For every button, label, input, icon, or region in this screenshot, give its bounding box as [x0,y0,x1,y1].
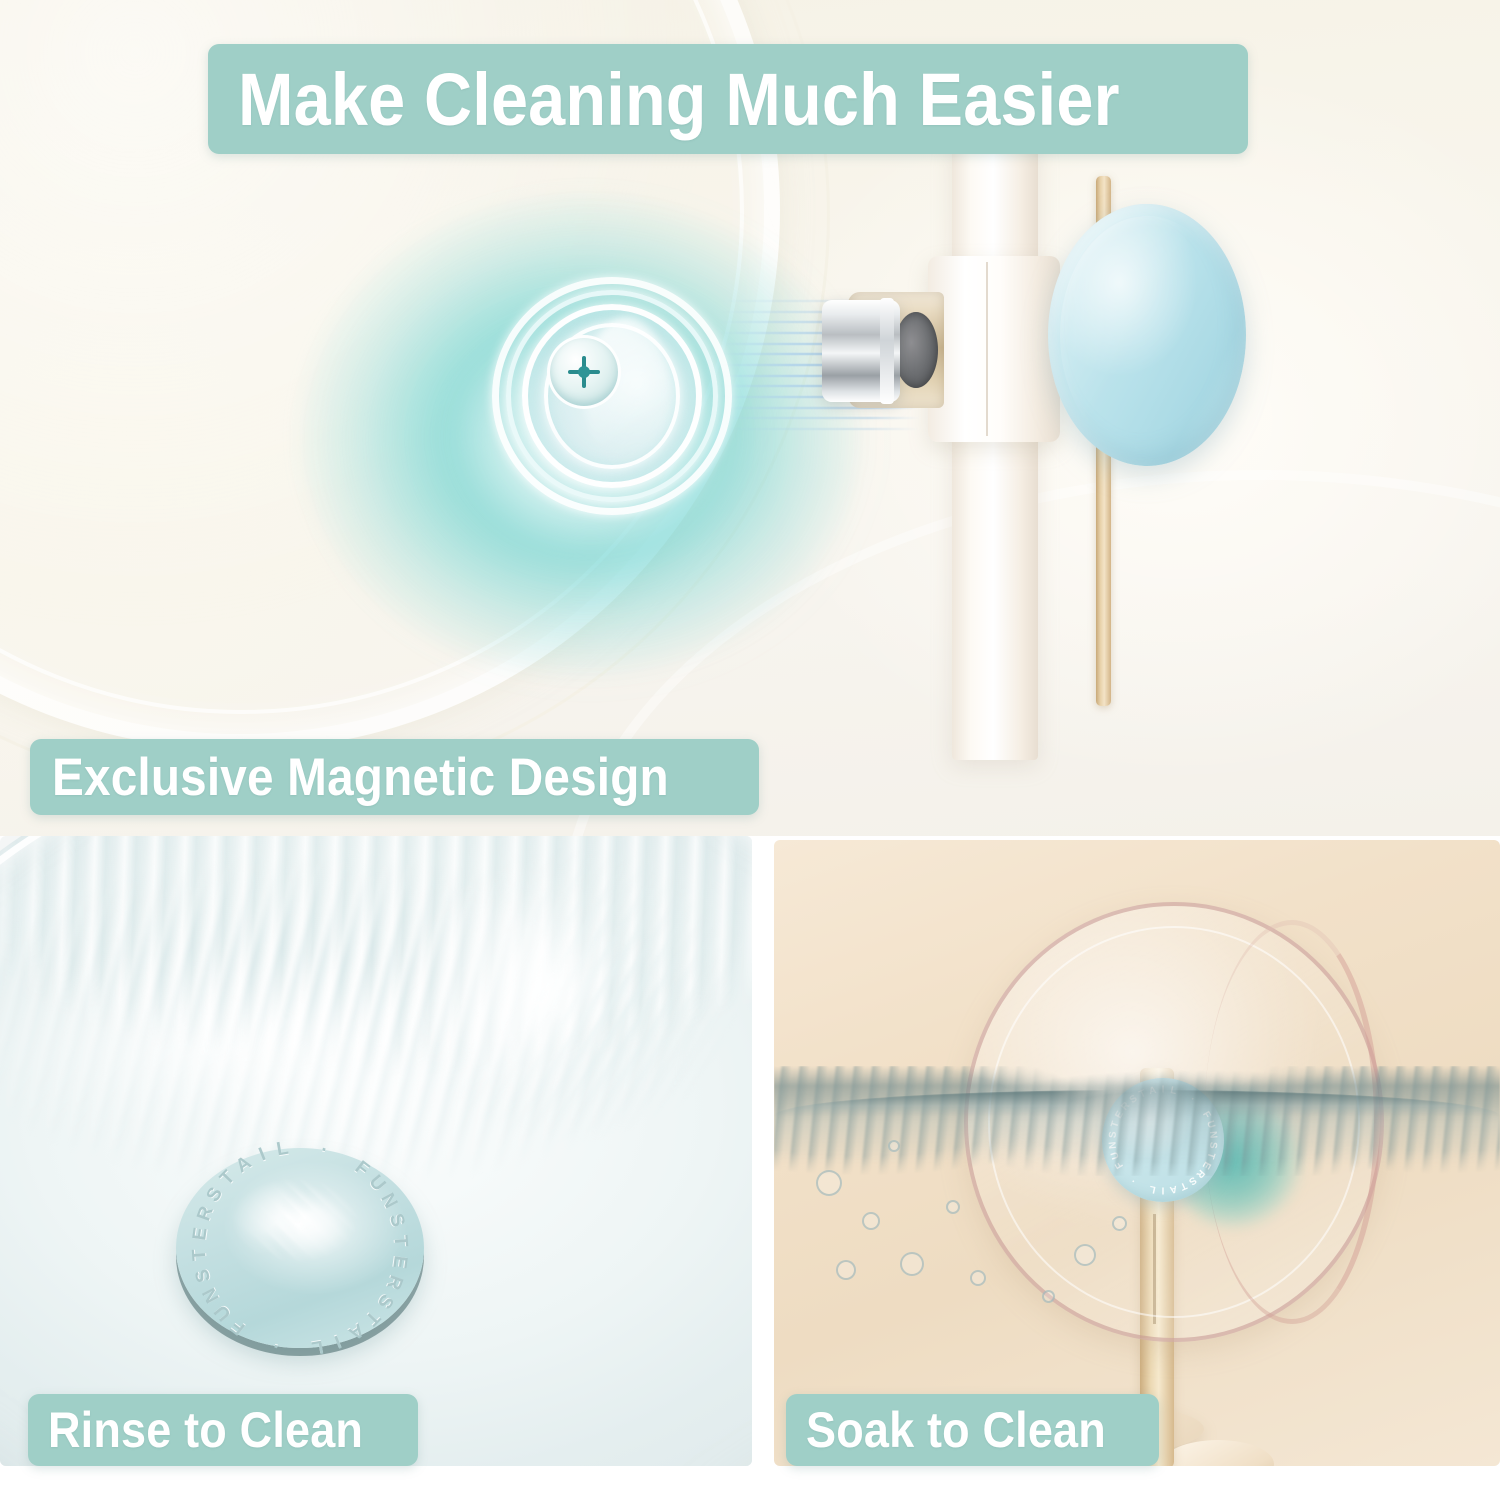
disc-brand-char: L [310,1335,325,1359]
magnetic-disc-rinse: FUNSTERSTAIL · FUNSTERSTAIL · [176,1148,424,1348]
panel-divider [752,836,774,1466]
air-bubble [816,1170,842,1196]
panel-rinse-to-clean [0,836,752,1466]
pump-bore [894,312,938,388]
feature-subtitle: Exclusive Magnetic Design [52,747,669,808]
air-bubble [888,1140,900,1152]
magnetic-disc [1048,204,1246,466]
disc-brand-char: N [199,1284,225,1306]
chrome-shaft-icon [822,300,900,402]
disc-brand-char: T [1178,1179,1188,1192]
disc-brand-char: L [1148,1183,1156,1195]
air-bubble [1074,1244,1096,1266]
panel-soak-label-banner: Soak to Clean [786,1394,1159,1466]
water-splash [360,846,752,1176]
disc-brand-char: · [1129,1175,1138,1186]
impeller-rotor-icon [492,277,732,515]
air-bubble [1112,1216,1127,1231]
feature-subtitle-banner: Exclusive Magnetic Design [30,739,759,815]
page-title: Make Cleaning Much Easier [238,57,1120,142]
panel-soak-label: Soak to Clean [806,1401,1106,1459]
panel-rinse-label-banner: Rinse to Clean [28,1394,418,1466]
product-infographic: Make Cleaning Much Easier Exclusive Magn… [0,0,1500,1500]
disc-brand-char: S [384,1211,409,1229]
pump-stem [952,140,1038,760]
water-surface-wave [774,1066,1500,1176]
disc-brand-char: I [1162,1185,1165,1196]
pump-housing [928,256,1060,442]
air-bubble [862,1212,880,1230]
disc-brand-char: A [1169,1183,1178,1195]
hero-panel: Make Cleaning Much Easier Exclusive Magn… [0,0,1500,836]
panel-soak-to-clean: FUNSTERSTAIL · FUNSTERSTAIL · [774,840,1500,1466]
air-bubble [900,1252,924,1276]
page-title-banner: Make Cleaning Much Easier [208,44,1248,154]
air-bubble [1042,1290,1055,1303]
disc-brand-char: T [388,1234,411,1247]
panel-rinse-label: Rinse to Clean [48,1401,363,1459]
bottom-margin [0,1466,1500,1500]
water-film [206,1160,386,1280]
disc-brand-char: E [387,1254,411,1270]
disc-brand-char: U [211,1300,237,1325]
screw-icon [569,357,599,387]
disc-brand-char: S [372,1290,397,1312]
air-bubble [836,1260,856,1280]
air-bubble [946,1200,960,1214]
air-bubble [970,1270,986,1286]
